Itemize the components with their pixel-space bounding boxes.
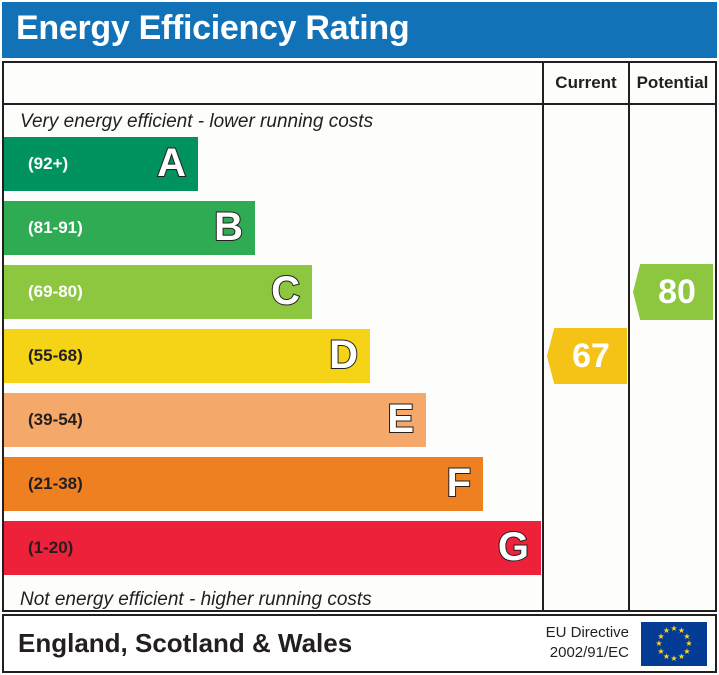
band-letter: F: [447, 457, 471, 511]
page-title: Energy Efficiency Rating: [16, 9, 409, 48]
rating-band-e: (39-54)E: [4, 393, 426, 447]
directive-line-2: 2002/91/EC: [489, 643, 629, 663]
rating-band-b: (81-91)B: [4, 201, 255, 255]
chart-title-bar: Energy Efficiency Rating: [2, 2, 717, 58]
rating-band-a: (92+)A: [4, 137, 198, 191]
band-letter: A: [157, 137, 186, 191]
column-header-current: Current: [544, 71, 628, 95]
chart-frame: Current Potential Very energy efficient …: [2, 61, 717, 612]
eu-flag-icon: ★★★★★★★★★★★★: [641, 622, 707, 666]
current-rating-marker: 67: [547, 328, 627, 384]
eu-star-icon: ★: [655, 640, 663, 648]
rating-band-g: (1-20)G: [4, 521, 541, 575]
band-range-label: (81-91): [28, 201, 83, 255]
band-letter: D: [329, 329, 358, 383]
band-range-label: (1-20): [28, 521, 73, 575]
eu-star-icon: ★: [657, 648, 665, 656]
rating-band-c: (69-80)C: [4, 265, 312, 319]
band-letter: C: [271, 265, 300, 319]
eu-star-icon: ★: [663, 627, 671, 635]
rating-bands: (92+)A(81-91)B(69-80)C(55-68)D(39-54)E(2…: [4, 63, 540, 610]
rating-band-d: (55-68)D: [4, 329, 370, 383]
band-range-label: (21-38): [28, 457, 83, 511]
energy-efficiency-rating-chart: Energy Efficiency Rating Current Potenti…: [0, 0, 719, 675]
band-range-label: (39-54): [28, 393, 83, 447]
band-letter: B: [214, 201, 243, 255]
directive-line-1: EU Directive: [489, 623, 629, 643]
band-range-label: (69-80): [28, 265, 83, 319]
column-header-potential: Potential: [630, 71, 715, 95]
band-letter: G: [498, 521, 529, 575]
potential-rating-marker: 80: [633, 264, 713, 320]
current-column-divider: [542, 63, 544, 610]
potential-column-divider: [628, 63, 630, 610]
band-range-label: (55-68): [28, 329, 83, 383]
eu-star-icon: ★: [670, 655, 678, 663]
eu-star-icon: ★: [678, 653, 686, 661]
footer-directive: EU Directive 2002/91/EC: [489, 623, 629, 663]
rating-band-f: (21-38)F: [4, 457, 483, 511]
chart-footer: England, Scotland & Wales EU Directive 2…: [2, 614, 717, 673]
band-letter: E: [387, 393, 414, 447]
footer-region-label: England, Scotland & Wales: [18, 628, 352, 659]
band-range-label: (92+): [28, 137, 68, 191]
